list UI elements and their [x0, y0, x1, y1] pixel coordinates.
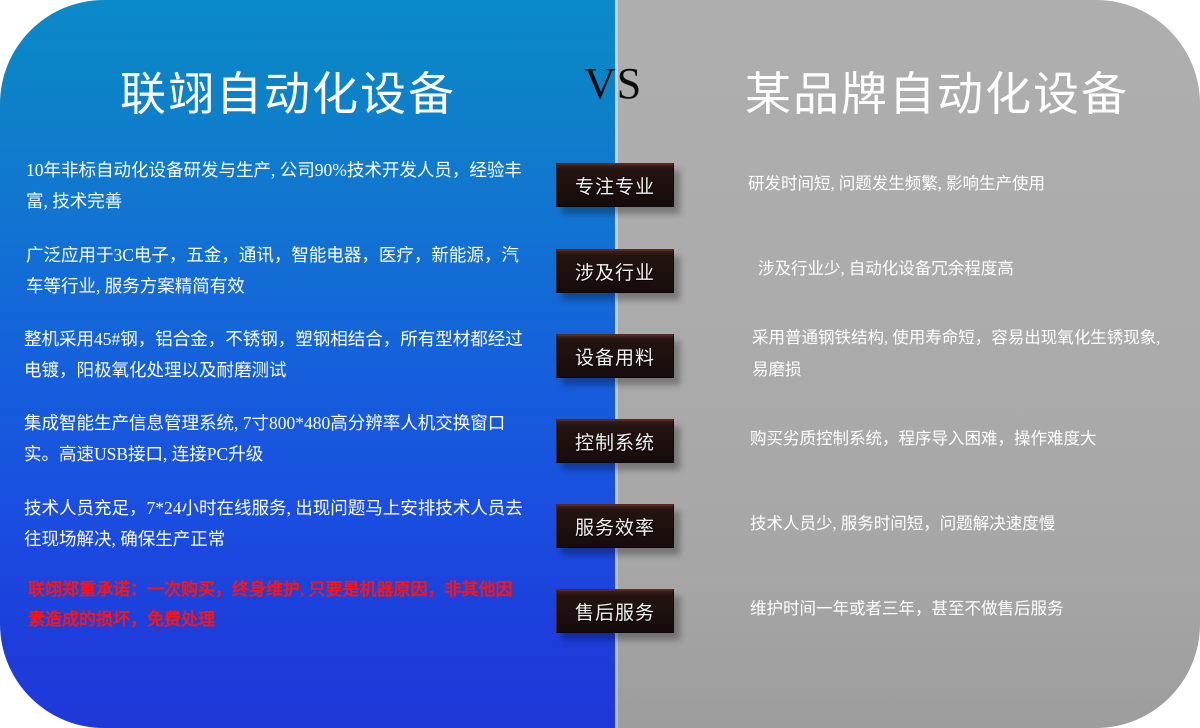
badge-row-4[interactable]: 控制系统 [556, 419, 674, 463]
badge-row-1[interactable]: 专注专业 [556, 163, 674, 207]
left-text-row-6-promise: 联翊郑重承诺：一次购买，终身维护, 只要是机器原因，非其他因素造成的损坏，免费处… [28, 575, 526, 635]
right-text-row-5: 技术人员少, 服务时间短，问题解决速度慢 [750, 508, 1190, 540]
left-text-row-2: 广泛应用于3C电子，五金，通讯，智能电器，医疗，新能源，汽车等行业, 服务方案精… [26, 240, 536, 302]
left-text-row-3: 整机采用45#钢，铝合金，不锈钢，塑钢相结合，所有型材都经过电镀，阳极氧化处理以… [24, 324, 534, 386]
badge-row-5[interactable]: 服务效率 [556, 504, 674, 548]
right-text-row-2: 涉及行业少, 自动化设备冗余程度高 [758, 253, 1198, 285]
right-panel-title: 某品牌自动化设备 [745, 58, 1129, 124]
right-text-row-6: 维护时间一年或者三年，甚至不做售后服务 [750, 593, 1190, 625]
badge-row-2-label: 涉及行业 [575, 258, 655, 285]
badge-row-6[interactable]: 售后服务 [556, 589, 674, 633]
left-panel-title: 联翊自动化设备 [120, 58, 456, 124]
comparison-infographic: 联翊自动化设备 某品牌自动化设备 VS 10年非标自动化设备研发与生产, 公司9… [0, 0, 1200, 728]
right-text-row-1: 研发时间短, 问题发生频繁, 影响生产使用 [748, 168, 1188, 200]
right-text-row-3: 采用普通钢铁结构, 使用寿命短，容易出现氧化生锈现象, 易磨损 [752, 322, 1172, 386]
badge-row-3-label: 设备用料 [575, 343, 655, 370]
panels-container: 联翊自动化设备 某品牌自动化设备 VS 10年非标自动化设备研发与生产, 公司9… [0, 0, 1200, 728]
vs-label: VS [584, 58, 642, 109]
badge-row-3[interactable]: 设备用料 [556, 334, 674, 378]
right-text-row-4: 购买劣质控制系统，程序导入困难，操作难度大 [750, 423, 1190, 455]
badge-row-5-label: 服务效率 [575, 513, 655, 540]
badge-row-4-label: 控制系统 [575, 428, 655, 455]
badge-row-1-label: 专注专业 [575, 172, 655, 199]
left-text-row-4: 集成智能生产信息管理系统, 7寸800*480高分辨率人机交换窗口实。高速USB… [24, 408, 534, 470]
badge-row-2[interactable]: 涉及行业 [556, 249, 674, 293]
left-text-row-5: 技术人员充足，7*24小时在线服务, 出现问题马上安排技术人员去往现场解决, 确… [24, 493, 534, 555]
badge-row-6-label: 售后服务 [575, 598, 655, 625]
left-text-row-1: 10年非标自动化设备研发与生产, 公司90%技术开发人员，经验丰富, 技术完善 [26, 155, 536, 217]
